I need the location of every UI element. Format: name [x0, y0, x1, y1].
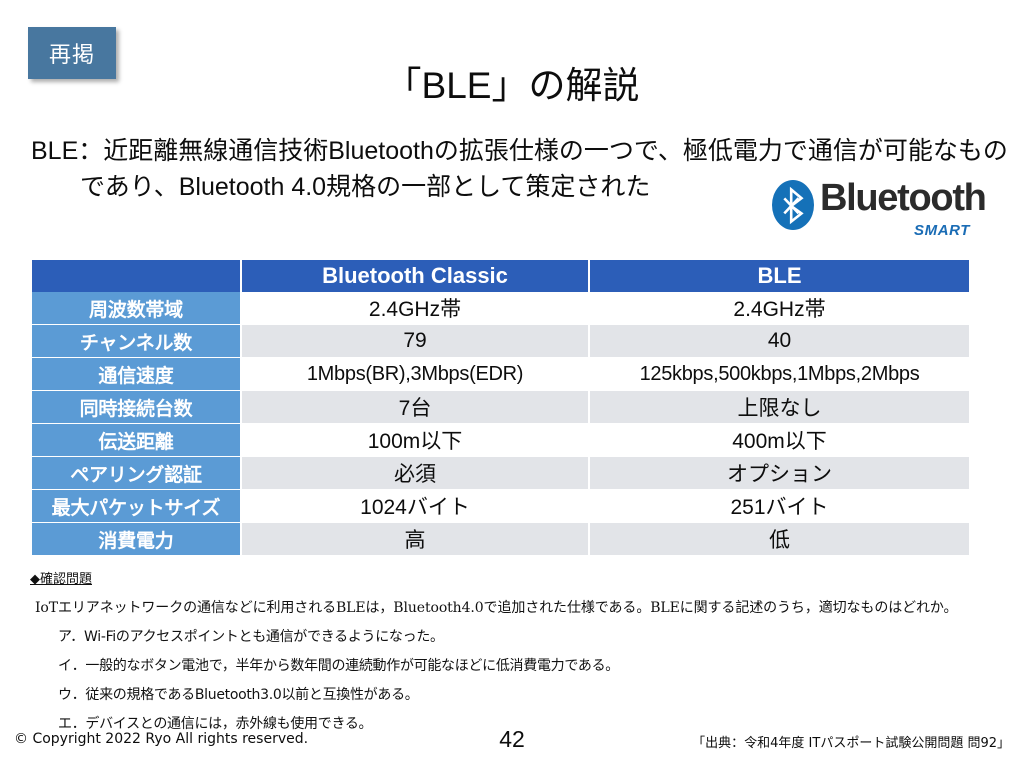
- table-row: チャンネル数 79 40: [32, 325, 969, 358]
- footer-source-citation: 「出典：令和4年度 ITパスポート試験公開問題 問92」: [692, 732, 1010, 751]
- bluetooth-icon: [772, 180, 814, 230]
- table-row: 通信速度 1Mbps(BR),3Mbps(EDR) 125kbps,500kbp…: [32, 358, 969, 391]
- practice-question-choice-a: ア．Wi-Fiのアクセスポイントとも通信ができるようになった。: [58, 626, 1010, 646]
- table-header-row: Bluetooth Classic BLE: [32, 260, 969, 292]
- row-label: 伝送距離: [32, 424, 241, 457]
- table-row: ペアリング認証 必須 オプション: [32, 457, 969, 490]
- row-label: 周波数帯域: [32, 292, 241, 325]
- cell-ble: 上限なし: [589, 391, 969, 424]
- practice-question-stem: IoTエリアネットワークの通信などに利用されるBLEは，Bluetooth4.0…: [35, 597, 1010, 617]
- page-title: 「BLE」の解説: [0, 64, 1024, 108]
- slide: 再掲 「BLE」の解説 BLE：近距離無線通信技術Bluetoothの拡張仕様の…: [0, 0, 1024, 768]
- table-row: 消費電力 高 低: [32, 523, 969, 556]
- table-header-ble: BLE: [589, 260, 969, 292]
- practice-question: ◆確認問題 IoTエリアネットワークの通信などに利用されるBLEは，Blueto…: [30, 568, 1010, 742]
- table-row: 最大パケットサイズ 1024バイト 251バイト: [32, 490, 969, 523]
- bluetooth-wordmark: Bluetooth: [820, 179, 986, 217]
- practice-question-choice-u: ウ．従来の規格であるBluetooth3.0以前と互換性がある。: [58, 684, 1010, 704]
- practice-question-heading: ◆確認問題: [30, 568, 1010, 587]
- table-header-blank: [32, 260, 241, 292]
- cell-classic: 100m以下: [241, 424, 589, 457]
- lead-line-1: BLE：近距離無線通信技術Bluetoothの拡張仕様の一つで、極低電力で通信が…: [31, 133, 996, 169]
- cell-classic: 7台: [241, 391, 589, 424]
- row-label: 同時接続台数: [32, 391, 241, 424]
- bluetooth-smart-logo: Bluetooth SMART: [772, 178, 972, 240]
- row-label: 通信速度: [32, 358, 241, 391]
- bluetooth-smart-tagline: SMART: [914, 222, 970, 239]
- cell-ble: オプション: [589, 457, 969, 490]
- practice-question-choice-i: イ．一般的なボタン電池で，半年から数年間の連続動作が可能なほどに低消費電力である…: [58, 655, 1010, 675]
- cell-classic: 1024バイト: [241, 490, 589, 523]
- table-row: 同時接続台数 7台 上限なし: [32, 391, 969, 424]
- cell-ble: 400m以下: [589, 424, 969, 457]
- table-header-classic: Bluetooth Classic: [241, 260, 589, 292]
- comparison-table: Bluetooth Classic BLE 周波数帯域 2.4GHz帯 2.4G…: [32, 260, 969, 556]
- cell-classic: 79: [241, 325, 589, 358]
- cell-ble: 125kbps,500kbps,1Mbps,2Mbps: [589, 358, 969, 391]
- table-row: 周波数帯域 2.4GHz帯 2.4GHz帯: [32, 292, 969, 325]
- cell-classic: 高: [241, 523, 589, 556]
- row-label: チャンネル数: [32, 325, 241, 358]
- cell-ble: 低: [589, 523, 969, 556]
- row-label: 最大パケットサイズ: [32, 490, 241, 523]
- cell-classic: 2.4GHz帯: [241, 292, 589, 325]
- cell-ble: 251バイト: [589, 490, 969, 523]
- cell-classic: 1Mbps(BR),3Mbps(EDR): [241, 358, 589, 391]
- row-label: 消費電力: [32, 523, 241, 556]
- cell-ble: 2.4GHz帯: [589, 292, 969, 325]
- cell-ble: 40: [589, 325, 969, 358]
- cell-classic: 必須: [241, 457, 589, 490]
- table-row: 伝送距離 100m以下 400m以下: [32, 424, 969, 457]
- row-label: ペアリング認証: [32, 457, 241, 490]
